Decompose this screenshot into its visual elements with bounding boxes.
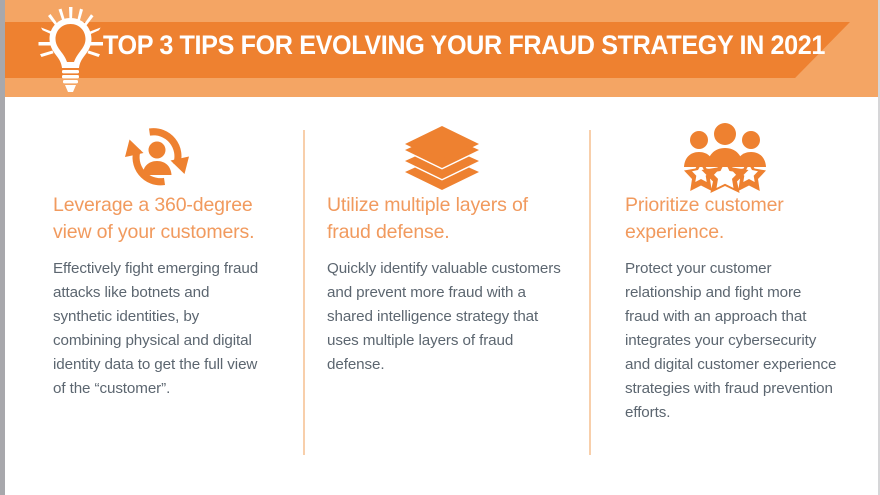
lightbulb-icon xyxy=(31,6,109,92)
column-divider-1 xyxy=(303,130,305,455)
customer-360-view-icon xyxy=(53,97,275,192)
tip-body-3: Protect your customer relationship and f… xyxy=(625,257,837,425)
tip-body-1: Effectively fight emerging fraud attacks… xyxy=(53,257,269,401)
tip-heading-1: Leverage a 360-degree view of your custo… xyxy=(53,192,269,246)
tip-heading-3: Prioritize customer experience. xyxy=(625,192,837,246)
header: TOP 3 TIPS FOR EVOLVING YOUR FRAUD STRAT… xyxy=(5,0,880,97)
tips-columns: Leverage a 360-degree view of your custo… xyxy=(5,97,880,495)
tip-body-2: Quickly identify valuable customers and … xyxy=(327,257,565,377)
page-title: TOP 3 TIPS FOR EVOLVING YOUR FRAUD STRAT… xyxy=(103,30,825,61)
column-divider-2 xyxy=(589,130,591,455)
infographic-page: TOP 3 TIPS FOR EVOLVING YOUR FRAUD STRAT… xyxy=(0,0,880,495)
tip-column-2: Utilize multiple layers of fraud defense… xyxy=(327,97,567,377)
stacked-layers-icon xyxy=(327,97,567,192)
tip-column-1: Leverage a 360-degree view of your custo… xyxy=(53,97,275,401)
customer-experience-group-star-icon xyxy=(625,97,840,192)
tip-heading-2: Utilize multiple layers of fraud defense… xyxy=(327,192,565,246)
tip-column-3: Prioritize customer experience. Protect … xyxy=(625,97,840,425)
